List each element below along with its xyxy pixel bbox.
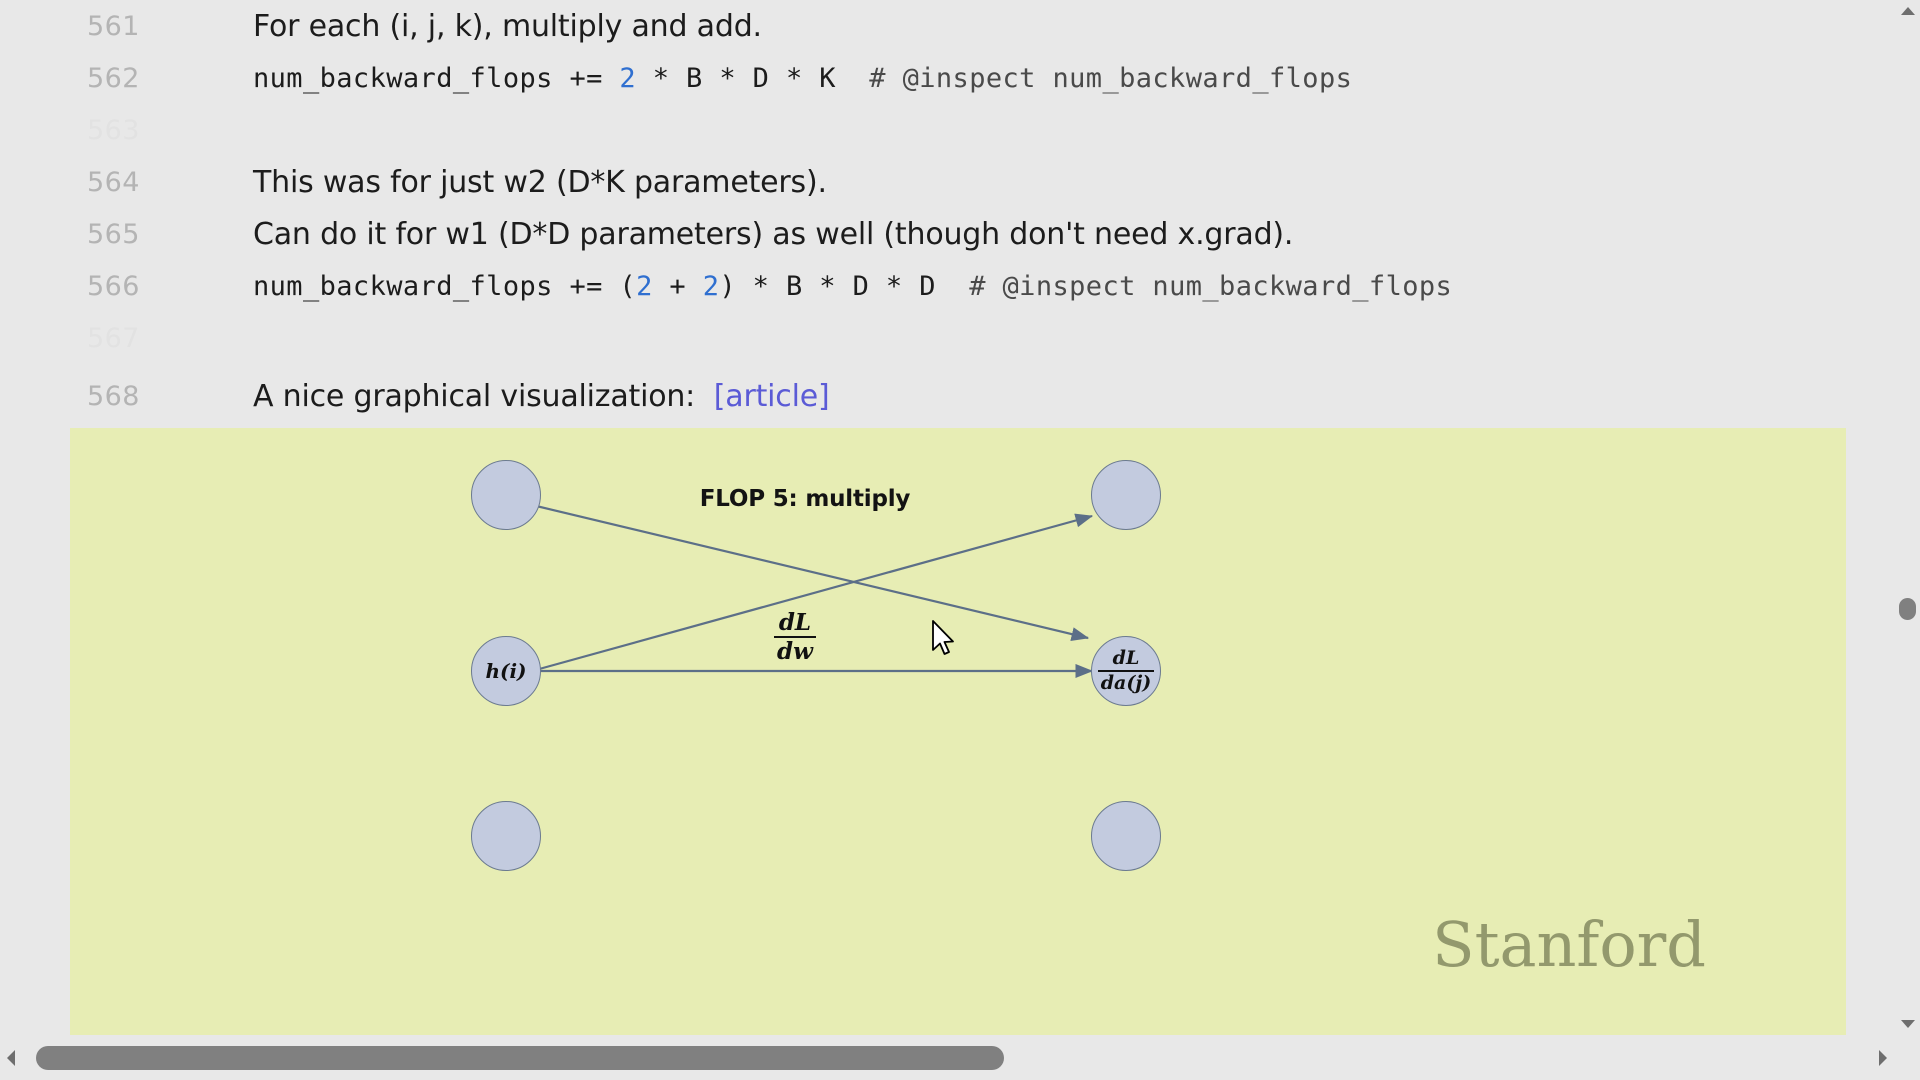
node-top-left[interactable] (471, 460, 541, 530)
horizontal-scrollbar-thumb[interactable] (36, 1046, 1004, 1070)
code-token-expr: * B * D * K (636, 63, 869, 94)
edge-label-dl-dw: dL dw (774, 611, 816, 664)
code-token-number: 2 (636, 271, 653, 302)
code-token-assign: num_backward_flops += ( (253, 271, 636, 302)
code-line[interactable]: 566 num_backward_flops += (2 + 2) * B * … (0, 260, 1895, 312)
line-number: 561 (0, 11, 160, 42)
code-token-comment: # @inspect num_backward_flops (969, 271, 1452, 302)
node-top-right[interactable] (1091, 460, 1161, 530)
line-number: 564 (0, 167, 160, 198)
node-mid-left[interactable]: h(i) (471, 636, 541, 706)
node-bottom-right[interactable] (1091, 801, 1161, 871)
line-content: This was for just w2 (D*K parameters). (160, 165, 1895, 200)
node-bottom-left[interactable] (471, 801, 541, 871)
stanford-watermark: Stanford (1432, 908, 1706, 981)
vertical-scrollbar-thumb[interactable] (1899, 598, 1916, 620)
scroll-right-arrow-icon[interactable] (1872, 1035, 1894, 1080)
code-editor[interactable]: 561 For each (i, j, k), multiply and add… (0, 0, 1895, 1035)
line-content: num_backward_flops += (2 + 2) * B * D * … (160, 271, 1895, 302)
code-line[interactable]: 561 For each (i, j, k), multiply and add… (0, 0, 1895, 52)
scroll-left-arrow-icon[interactable] (0, 1035, 22, 1080)
fraction-numerator: dL (776, 611, 814, 634)
line-number: 566 (0, 271, 160, 302)
horizontal-scrollbar[interactable] (0, 1035, 1920, 1080)
code-line[interactable]: 562 num_backward_flops += 2 * B * D * K … (0, 52, 1895, 104)
article-link[interactable]: [article] (714, 379, 830, 414)
code-token-assign: num_backward_flops += (253, 63, 619, 94)
code-token-plus: + (653, 271, 703, 302)
fraction-numerator: dL (1110, 649, 1143, 668)
code-token-comment: # @inspect num_backward_flops (869, 63, 1352, 94)
fraction-denominator: dw (774, 640, 816, 663)
code-line[interactable]: 563 (0, 104, 1895, 156)
vertical-scrollbar[interactable] (1895, 0, 1920, 1035)
fraction-denominator: da(j) (1098, 674, 1154, 693)
line-number: 565 (0, 219, 160, 250)
line-number: 568 (0, 381, 160, 412)
code-line[interactable]: 564 This was for just w2 (D*K parameters… (0, 156, 1895, 208)
code-line[interactable]: 565 Can do it for w1 (D*D parameters) as… (0, 208, 1895, 260)
scroll-up-arrow-icon[interactable] (1895, 0, 1920, 22)
line-number: 567 (0, 323, 160, 354)
code-token-number: 2 (619, 63, 636, 94)
line-content: Can do it for w1 (D*D parameters) as wel… (160, 217, 1895, 252)
line-content: num_backward_flops += 2 * B * D * K # @i… (160, 63, 1895, 94)
node-mid-right-fraction: dL da(j) (1098, 649, 1154, 693)
line-text: A nice graphical visualization: (253, 379, 714, 414)
scroll-down-arrow-icon[interactable] (1895, 1013, 1920, 1035)
scrollbar-corner (1894, 1035, 1920, 1080)
line-content: For each (i, j, k), multiply and add. (160, 9, 1895, 44)
line-number: 563 (0, 115, 160, 146)
edge-label-fraction: dL dw (774, 611, 816, 664)
code-line[interactable]: 568 A nice graphical visualization: [art… (0, 370, 1895, 422)
figure-slide: FLOP 5: multiply h(i) dL da(j) dL (70, 428, 1846, 1035)
code-token-expr: ) * B * D * D (719, 271, 969, 302)
line-number: 562 (0, 63, 160, 94)
figure-title: FLOP 5: multiply (0, 486, 1693, 512)
line-content: A nice graphical visualization: [article… (160, 379, 1895, 414)
node-mid-left-label: h(i) (485, 659, 526, 683)
app-window: 561 For each (i, j, k), multiply and add… (0, 0, 1920, 1080)
node-mid-right[interactable]: dL da(j) (1091, 636, 1161, 706)
code-token-number: 2 (703, 271, 720, 302)
code-line[interactable]: 567 (0, 312, 1895, 364)
